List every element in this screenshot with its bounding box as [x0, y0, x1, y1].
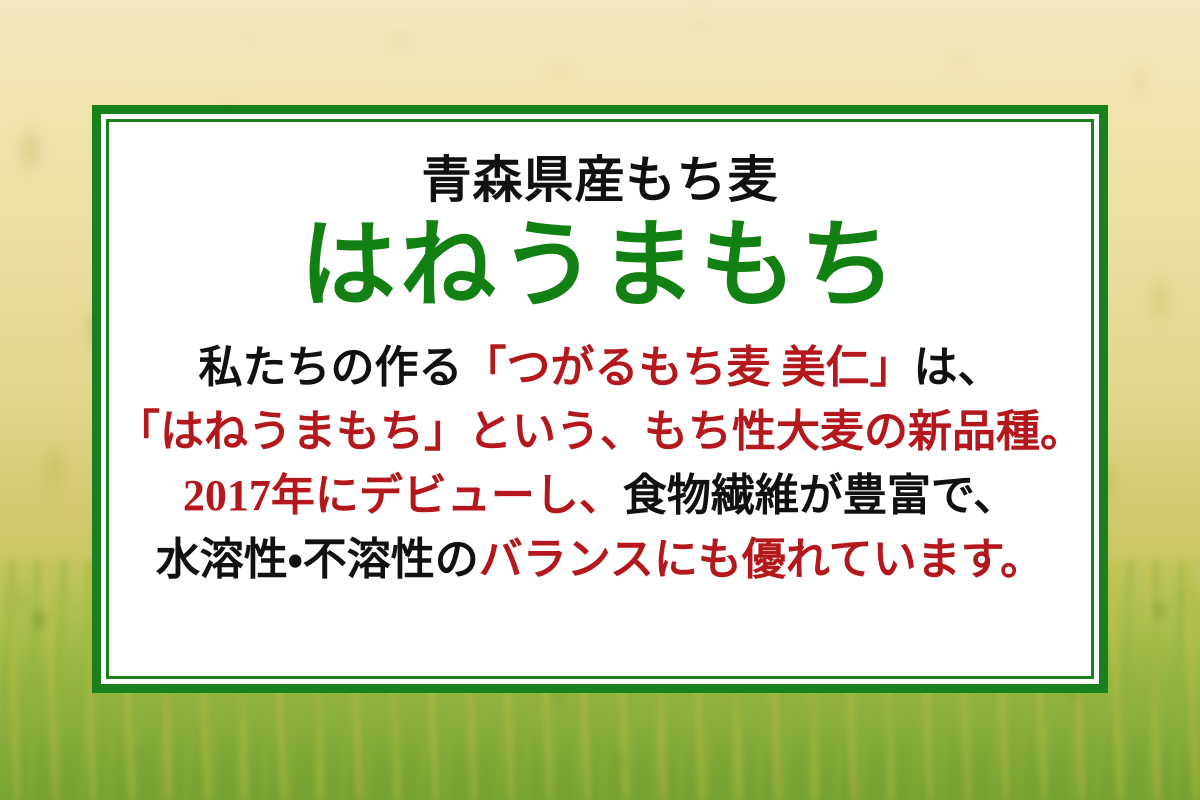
kicker-text: 青森県産もち麦: [422, 154, 779, 207]
body-line-3-part-2: 食物繊維が豊富で、: [623, 471, 1017, 520]
body-line-1-part-1: 私たちの作る: [199, 343, 463, 392]
body-copy: 私たちの作る「つがるもち麦 美仁」は、 「はねうまもち」という、もち性大麦の新品…: [116, 336, 1084, 591]
body-line-2: 「はねうまもち」という、もち性大麦の新品種。: [116, 400, 1084, 464]
body-line-2-highlight: 「はねうまもち」という、もち性大麦の新品種。: [116, 407, 1084, 456]
body-line-1-part-3: は、: [914, 343, 1002, 392]
body-line-3-highlight: 2017年にデビューし、: [183, 471, 623, 520]
product-name-headline: はねうまもち: [300, 217, 900, 315]
body-line-1: 私たちの作る「つがるもち麦 美仁」は、: [116, 336, 1084, 400]
body-line-1-highlight: 「つがるもち麦 美仁」: [463, 343, 914, 392]
card-inner-border: 青森県産もち麦 はねうまもち 私たちの作る「つがるもち麦 美仁」は、 「はねうま…: [106, 119, 1094, 679]
green-framed-card: 青森県産もち麦 はねうまもち 私たちの作る「つがるもち麦 美仁」は、 「はねうま…: [92, 105, 1108, 693]
body-line-3: 2017年にデビューし、食物繊維が豊富で、: [116, 464, 1084, 528]
body-line-4-part-1: 水溶性・不溶性の: [156, 535, 479, 584]
poster-canvas: 青森県産もち麦 はねうまもち 私たちの作る「つがるもち麦 美仁」は、 「はねうま…: [0, 0, 1200, 800]
body-line-4-highlight: バランスにも優れています。: [479, 535, 1044, 584]
body-line-4: 水溶性・不溶性のバランスにも優れています。: [116, 528, 1084, 592]
